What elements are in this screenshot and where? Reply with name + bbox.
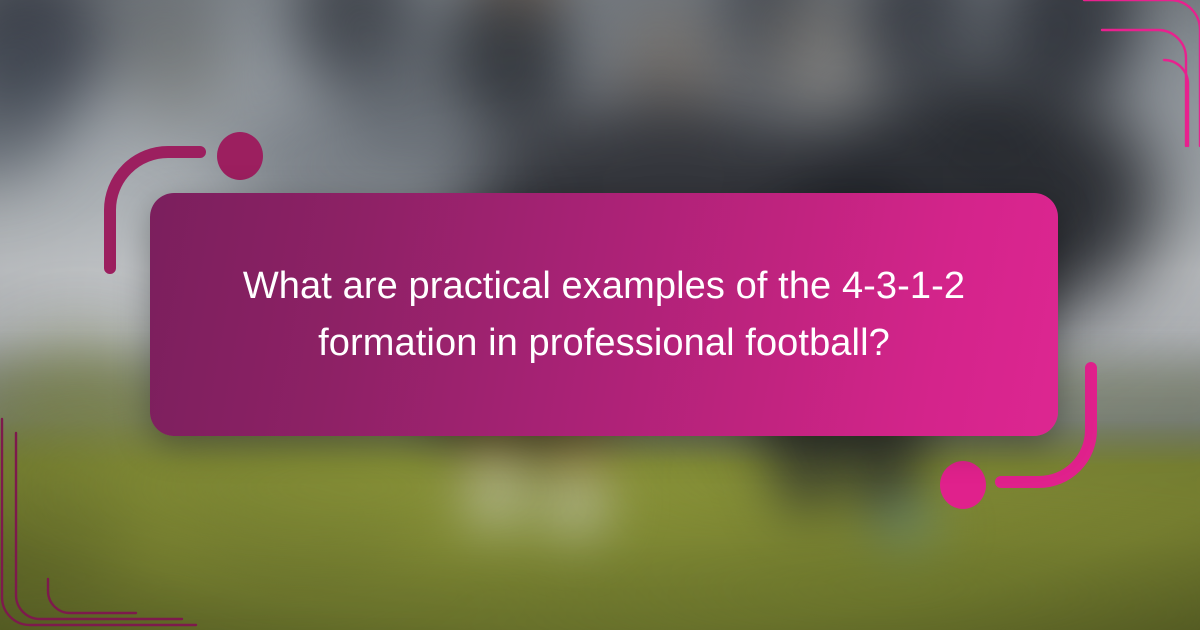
top-left-accent-dot-icon (217, 132, 263, 180)
social-share-card: What are practical examples of the 4-3-1… (0, 0, 1200, 630)
title-card: What are practical examples of the 4-3-1… (150, 193, 1058, 436)
bottom-right-accent-dot-icon (940, 461, 986, 509)
page-title: What are practical examples of the 4-3-1… (234, 258, 974, 370)
